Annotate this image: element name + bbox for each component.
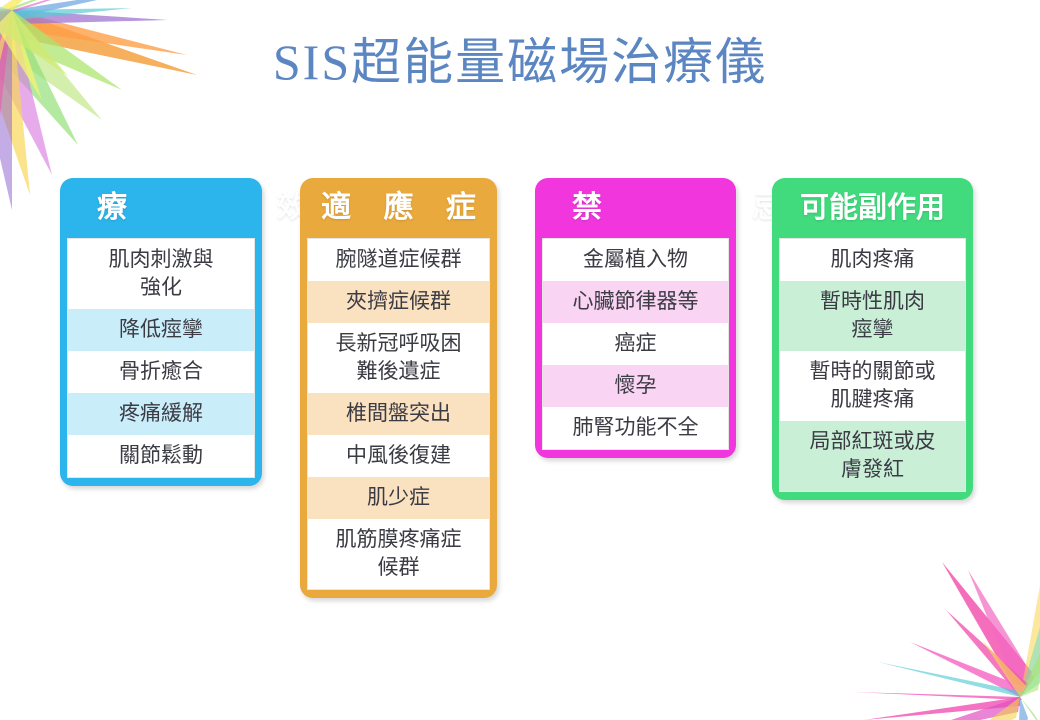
list-item[interactable]: 椎間盤突出 (308, 393, 489, 435)
card-header-contraindications: 禁 忌 (542, 178, 729, 238)
card-header-possible-side-effects: 可能副作用 (779, 178, 966, 238)
list-item[interactable]: 夾擠症候群 (308, 281, 489, 323)
list-item[interactable]: 金屬植入物 (543, 239, 728, 281)
slide-canvas: SIS超能量磁場治療儀 療 效 肌肉刺激與 強化 降低痙攣 骨折癒合 疼痛緩解 … (0, 0, 1040, 720)
list-item[interactable]: 肌筋膜疼痛症 候群 (308, 519, 489, 589)
list-item[interactable]: 肌少症 (308, 477, 489, 519)
card-possible-side-effects[interactable]: 可能副作用 肌肉疼痛 暫時性肌肉 痙攣 暫時的關節或 肌腱疼痛 局部紅斑或皮 膚… (772, 178, 973, 500)
list-item[interactable]: 疼痛緩解 (68, 393, 254, 435)
list-item[interactable]: 心臟節律器等 (543, 281, 728, 323)
card-header-therapeutic-effects: 療 效 (67, 178, 255, 238)
list-item[interactable]: 關節鬆動 (68, 435, 254, 477)
card-header-indications: 適 應 症 (307, 178, 490, 238)
list-item[interactable]: 腕隧道症候群 (308, 239, 489, 281)
list-item[interactable]: 降低痙攣 (68, 309, 254, 351)
list-item[interactable]: 懷孕 (543, 365, 728, 407)
card-indications[interactable]: 適 應 症 腕隧道症候群 夾擠症候群 長新冠呼吸困 難後遺症 椎間盤突出 中風後… (300, 178, 497, 598)
list-item[interactable]: 癌症 (543, 323, 728, 365)
cards-container: 療 效 肌肉刺激與 強化 降低痙攣 骨折癒合 疼痛緩解 關節鬆動 適 應 症 腕… (0, 0, 1040, 720)
list-item[interactable]: 骨折癒合 (68, 351, 254, 393)
card-contraindications[interactable]: 禁 忌 金屬植入物 心臟節律器等 癌症 懷孕 肺腎功能不全 (535, 178, 736, 458)
list-item[interactable]: 暫時性肌肉 痙攣 (780, 281, 965, 351)
list-item[interactable]: 肺腎功能不全 (543, 407, 728, 449)
list-item[interactable]: 肌肉刺激與 強化 (68, 239, 254, 309)
card-body-therapeutic-effects: 肌肉刺激與 強化 降低痙攣 骨折癒合 疼痛緩解 關節鬆動 (67, 238, 255, 478)
list-item[interactable]: 暫時的關節或 肌腱疼痛 (780, 351, 965, 421)
card-body-contraindications: 金屬植入物 心臟節律器等 癌症 懷孕 肺腎功能不全 (542, 238, 729, 450)
card-body-indications: 腕隧道症候群 夾擠症候群 長新冠呼吸困 難後遺症 椎間盤突出 中風後復建 肌少症… (307, 238, 490, 590)
list-item[interactable]: 中風後復建 (308, 435, 489, 477)
list-item[interactable]: 長新冠呼吸困 難後遺症 (308, 323, 489, 393)
card-body-possible-side-effects: 肌肉疼痛 暫時性肌肉 痙攣 暫時的關節或 肌腱疼痛 局部紅斑或皮 膚發紅 (779, 238, 966, 492)
list-item[interactable]: 局部紅斑或皮 膚發紅 (780, 421, 965, 491)
list-item[interactable]: 肌肉疼痛 (780, 239, 965, 281)
card-therapeutic-effects[interactable]: 療 效 肌肉刺激與 強化 降低痙攣 骨折癒合 疼痛緩解 關節鬆動 (60, 178, 262, 486)
